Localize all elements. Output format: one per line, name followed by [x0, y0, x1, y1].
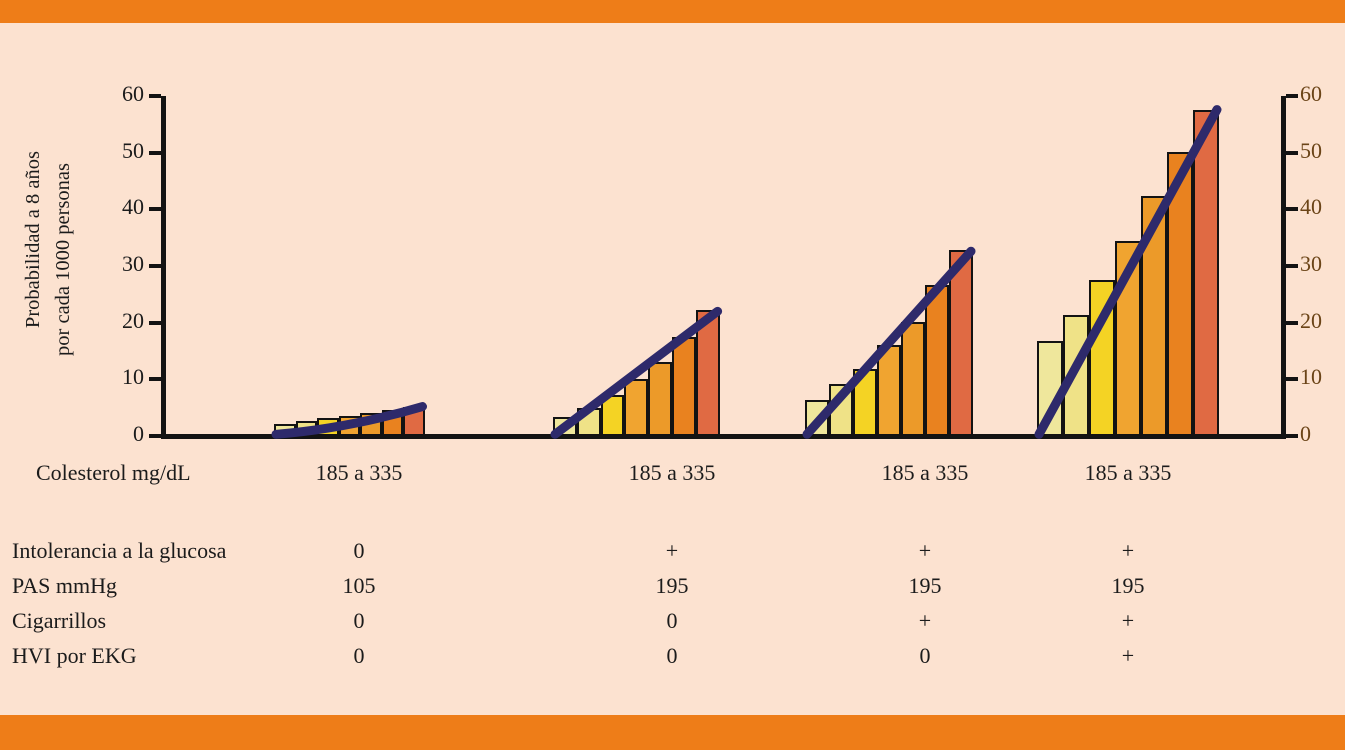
table-cell: + [1043, 608, 1213, 634]
table-row: Intolerancia a la glucosa0+++ [0, 538, 1345, 570]
y-tick-label-right-0: 0 [1300, 423, 1344, 445]
trend-line-group-3 [805, 23, 979, 436]
trend-line-group-1 [274, 23, 431, 436]
y-tick-right-50 [1286, 151, 1298, 155]
table-row-label: PAS mmHg [12, 573, 117, 599]
y-tick-label-right-60: 60 [1300, 83, 1344, 105]
table-row-label: Cigarrillos [12, 608, 106, 634]
table-cell: 0 [274, 608, 444, 634]
group-total-label-3: 34.6 [809, 0, 969, 1]
cholesterol-value: 185 a 335 [840, 460, 1010, 486]
y-tick-label-left-50: 50 [104, 140, 144, 162]
y-tick-label-left-10: 10 [104, 366, 144, 388]
group-total-label-1: 3.9 [269, 0, 429, 1]
trend-line-group-2 [553, 23, 726, 436]
y-tick-label-left-40: 40 [104, 196, 144, 218]
table-cell: 105 [274, 573, 444, 599]
y-tick-left-30 [149, 264, 161, 268]
risk-factor-table: Colesterol mg/dL 185 a 335185 a 335185 a… [0, 448, 1345, 718]
table-cell: + [840, 608, 1010, 634]
y-tick-left-0 [149, 434, 161, 438]
y-tick-left-40 [149, 207, 161, 211]
y-tick-label-right-40: 40 [1300, 196, 1344, 218]
y-tick-right-10 [1286, 377, 1298, 381]
table-cell: 0 [840, 643, 1010, 669]
y-tick-right-0 [1286, 434, 1298, 438]
cholesterol-value: 185 a 335 [274, 460, 444, 486]
bar-group-1: 3.9 [274, 23, 425, 436]
table-row: HVI por EKG000+ [0, 643, 1345, 675]
y-tick-label-left-20: 20 [104, 310, 144, 332]
table-row-label: HVI por EKG [12, 643, 137, 669]
plot-area: Probabilidad a 8 años por cada 1000 pers… [0, 23, 1345, 453]
cholesterol-row: Colesterol mg/dL 185 a 335185 a 335185 a… [0, 460, 1345, 490]
y-tick-label-left-30: 30 [104, 253, 144, 275]
group-total-label-2: 23.2 [556, 0, 716, 1]
y-tick-label-right-50: 50 [1300, 140, 1344, 162]
y-tick-right-20 [1286, 321, 1298, 325]
y-axis-title-line-2: por cada 1000 personas [52, 163, 75, 356]
group-total-label-4: 60.2 [1048, 0, 1208, 1]
table-cell: 0 [587, 643, 757, 669]
table-row: Cigarrillos00++ [0, 608, 1345, 640]
table-row: PAS mmHg105195195195 [0, 573, 1345, 605]
y-tick-label-right-30: 30 [1300, 253, 1344, 275]
y-axis-title-line-1: Probabilidad a 8 años [22, 151, 45, 328]
y-tick-left-10 [149, 377, 161, 381]
table-cell: 195 [1043, 573, 1213, 599]
y-tick-right-60 [1286, 94, 1298, 98]
y-tick-left-50 [149, 151, 161, 155]
table-cell: 0 [274, 538, 444, 564]
table-cell: 195 [840, 573, 1010, 599]
trend-line-group-4 [1037, 23, 1225, 436]
cholesterol-value: 185 a 335 [587, 460, 757, 486]
bar-group-2: 23.2 [553, 23, 720, 436]
cholesterol-row-label: Colesterol mg/dL [36, 460, 191, 486]
y-tick-left-20 [149, 321, 161, 325]
table-cell: + [587, 538, 757, 564]
table-cell: + [1043, 538, 1213, 564]
table-cell: + [840, 538, 1010, 564]
left-y-axis [161, 96, 166, 438]
table-cell: 0 [274, 643, 444, 669]
table-cell: 0 [587, 608, 757, 634]
bottom-orange-banner [0, 715, 1345, 750]
y-tick-left-60 [149, 94, 161, 98]
table-cell: + [1043, 643, 1213, 669]
cholesterol-value: 185 a 335 [1043, 460, 1213, 486]
bar-group-4: 60.2 [1037, 23, 1219, 436]
y-tick-right-30 [1286, 264, 1298, 268]
top-orange-banner [0, 0, 1345, 23]
y-tick-label-right-10: 10 [1300, 366, 1344, 388]
y-tick-label-right-20: 20 [1300, 310, 1344, 332]
y-tick-label-left-0: 0 [104, 423, 144, 445]
bar-group-3: 34.6 [805, 23, 973, 436]
table-row-label: Intolerancia a la glucosa [12, 538, 226, 564]
table-cell: 195 [587, 573, 757, 599]
y-tick-label-left-60: 60 [104, 83, 144, 105]
y-tick-right-40 [1286, 207, 1298, 211]
risk-bar-chart: Probabilidad a 8 años por cada 1000 pers… [0, 23, 1345, 715]
